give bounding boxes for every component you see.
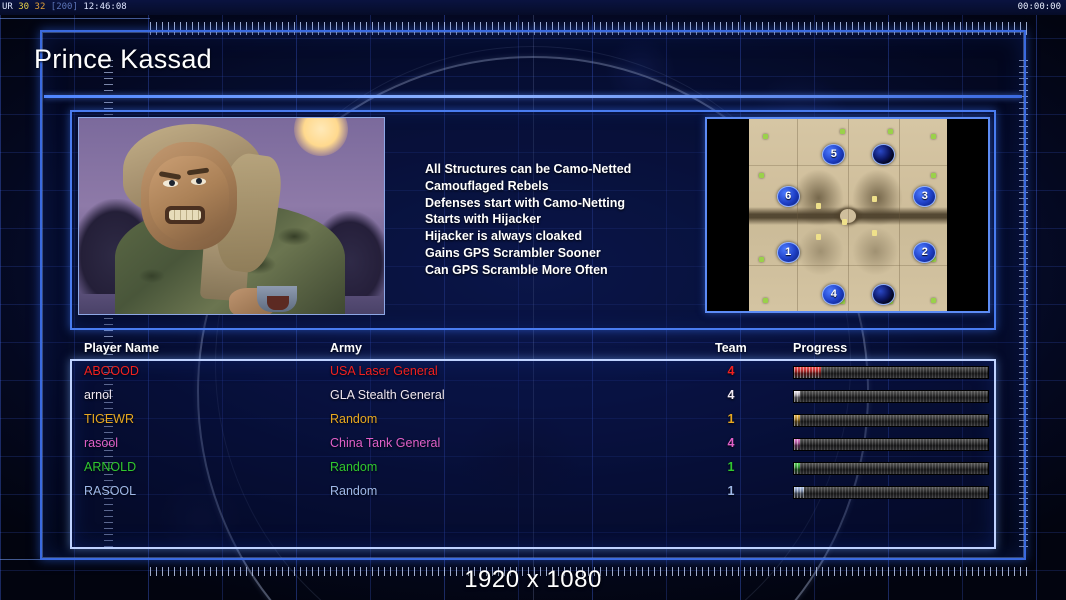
- cell-team: 1: [720, 412, 742, 426]
- minimap-supply-dock: [759, 257, 764, 262]
- minimap-supply-dock: [888, 129, 893, 134]
- status-value-2: 32: [35, 2, 46, 12]
- ability-item: Defenses start with Camo-Netting: [425, 195, 695, 212]
- ability-item: Can GPS Scramble More Often: [425, 262, 695, 279]
- header-player-name: Player Name: [84, 341, 159, 355]
- frame-edge-topleft: [0, 18, 150, 19]
- cell-player-name: ARNOLD: [84, 460, 136, 474]
- minimap-oil-derrick: [816, 203, 821, 209]
- minimap-start-position-empty: [872, 144, 895, 165]
- player-table-body: ABOOODUSA Laser General4arnolGLA Stealth…: [70, 362, 996, 506]
- header-army: Army: [330, 341, 362, 355]
- table-row: rasoolChina Tank General4: [70, 434, 996, 458]
- progress-bar-sheen: [794, 463, 988, 474]
- status-value-1: 30: [18, 2, 29, 12]
- progress-bar-sheen: [794, 367, 988, 378]
- status-prefix: UR: [2, 2, 13, 12]
- minimap-supply-dock: [763, 134, 768, 139]
- general-abilities-list: All Structures can be Camo-Netted Camouf…: [425, 161, 695, 279]
- minimap-supply-dock: [763, 298, 768, 303]
- cell-team: 4: [720, 436, 742, 450]
- cell-army: Random: [330, 460, 377, 474]
- status-clock: 12:46:08: [83, 2, 126, 12]
- cell-team: 4: [720, 388, 742, 402]
- progress-bar: [793, 414, 989, 427]
- minimap-supply-dock: [840, 129, 845, 134]
- resolution-label: 1920 x 1080: [0, 566, 1066, 594]
- page-title: Prince Kassad: [34, 44, 212, 75]
- table-row: arnolGLA Stealth General4: [70, 386, 996, 410]
- cell-army: USA Laser General: [330, 364, 438, 378]
- minimap-gridline: [749, 165, 947, 166]
- cell-player-name: RASOOL: [84, 484, 136, 498]
- cell-team: 1: [720, 484, 742, 498]
- cell-player-name: ABOOOD: [84, 364, 139, 378]
- top-status-bar: UR 30 32 [200] 12:46:08 00:00:00: [0, 0, 1066, 15]
- minimap-start-position-empty: [872, 284, 895, 305]
- cell-team: 1: [720, 460, 742, 474]
- minimap-gridline: [848, 119, 849, 311]
- cell-player-name: TIGEWR: [84, 412, 134, 426]
- minimap-gridline: [749, 265, 947, 266]
- cell-player-name: arnol: [84, 388, 112, 402]
- progress-bar: [793, 390, 989, 403]
- game-timer: 00:00:00: [1018, 1, 1061, 13]
- table-row: ABOOODUSA Laser General4: [70, 362, 996, 386]
- cell-army: China Tank General: [330, 436, 440, 450]
- portrait-pupil-right: [196, 178, 202, 184]
- header-team: Team: [715, 341, 747, 355]
- cell-army: Random: [330, 484, 377, 498]
- title-divider: [44, 95, 1022, 98]
- minimap-supply-dock: [931, 173, 936, 178]
- progress-bar-sheen: [794, 391, 988, 402]
- minimap-supply-dock: [759, 173, 764, 178]
- minimap-oil-derrick: [842, 219, 847, 225]
- ability-item: Gains GPS Scrambler Sooner: [425, 245, 695, 262]
- minimap-supply-dock: [931, 298, 936, 303]
- minimap-preview: 563124: [705, 117, 990, 313]
- minimap-start-position-5: 5: [822, 144, 845, 165]
- general-portrait: [78, 117, 385, 315]
- progress-bar: [793, 366, 989, 379]
- progress-bar: [793, 486, 989, 499]
- header-progress: Progress: [793, 341, 847, 355]
- minimap-gridline: [797, 119, 798, 311]
- skirmish-loading-screen: UR 30 32 [200] 12:46:08 00:00:00 Prince …: [0, 0, 1066, 600]
- minimap-start-position-3: 3: [913, 186, 936, 207]
- table-row: RASOOLRandom1: [70, 482, 996, 506]
- portrait-teeth: [169, 210, 201, 220]
- ability-item: Starts with Hijacker: [425, 211, 695, 228]
- debug-status-text: UR 30 32 [200] 12:46:08: [2, 1, 127, 13]
- cell-player-name: rasool: [84, 436, 118, 450]
- minimap-oil-derrick: [816, 234, 821, 240]
- cell-team: 4: [720, 364, 742, 378]
- minimap-oil-derrick: [872, 196, 877, 202]
- ability-item: All Structures can be Camo-Netted: [425, 161, 695, 178]
- status-bracket: [200]: [51, 2, 78, 12]
- cell-army: GLA Stealth General: [330, 388, 445, 402]
- portrait-pupil-left: [169, 180, 175, 186]
- player-table-header: Player Name Army Team Progress: [70, 341, 996, 359]
- cell-army: Random: [330, 412, 377, 426]
- ability-item: Camouflaged Rebels: [425, 178, 695, 195]
- portrait-face: [149, 156, 229, 242]
- portrait-teacup: [267, 296, 289, 310]
- minimap-gridline: [899, 119, 900, 311]
- minimap-start-position-1: 1: [777, 242, 800, 263]
- minimap-start-position-6: 6: [777, 186, 800, 207]
- minimap-terrain: 563124: [749, 119, 947, 311]
- progress-bar-sheen: [794, 487, 988, 498]
- minimap-supply-dock: [931, 134, 936, 139]
- table-row: TIGEWRRandom1: [70, 410, 996, 434]
- table-row: ARNOLDRandom1: [70, 458, 996, 482]
- ability-item: Hijacker is always cloaked: [425, 228, 695, 245]
- progress-bar-sheen: [794, 415, 988, 426]
- progress-bar-sheen: [794, 439, 988, 450]
- minimap-oil-derrick: [872, 230, 877, 236]
- progress-bar: [793, 462, 989, 475]
- progress-bar: [793, 438, 989, 451]
